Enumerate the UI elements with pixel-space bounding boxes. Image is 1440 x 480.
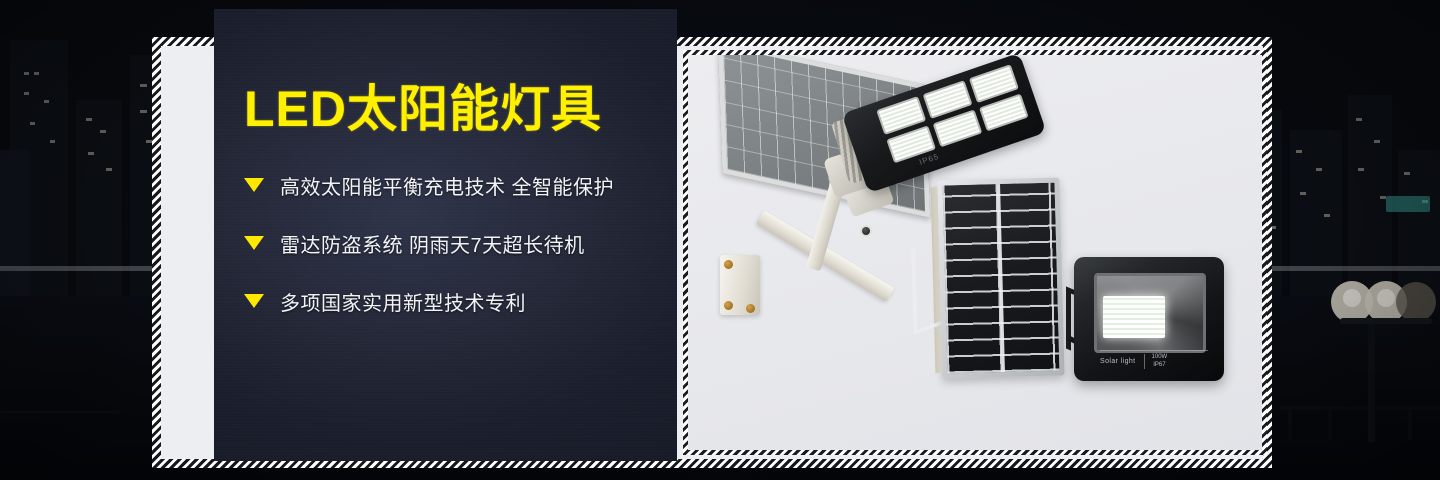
feature-text: 多项国家实用新型技术专利 xyxy=(280,287,526,316)
triangle-down-icon xyxy=(244,236,264,250)
feature-text: 高效太阳能平衡充电技术 全智能保护 xyxy=(280,171,614,200)
product-showcase-panel: IP65 xyxy=(683,50,1267,455)
solar-cell-grid xyxy=(943,183,1060,374)
bracket-bolt-icon xyxy=(746,304,755,313)
flood-light-ip-rating: IP67 xyxy=(1153,362,1165,368)
flood-light-label-row: Solar light 100W IP67 xyxy=(1100,350,1208,369)
flood-light-lens xyxy=(1094,273,1206,353)
triangle-down-icon xyxy=(244,178,264,192)
standalone-solar-panel-image xyxy=(937,177,1064,378)
solar-panel-frame xyxy=(937,177,1064,378)
triangle-down-icon xyxy=(244,294,264,308)
list-item: 多项国家实用新型技术专利 xyxy=(244,283,614,319)
page-title: LED太阳能灯具 xyxy=(244,69,602,141)
radar-sensor-icon xyxy=(860,225,872,237)
headline-panel: LED太阳能灯具 高效太阳能平衡充电技术 全智能保护 雷达防盗系统 阴雨天7天超… xyxy=(214,9,677,461)
solar-panel-busbar xyxy=(997,184,1005,372)
hatched-frame-border: LED太阳能灯具 高效太阳能平衡充电技术 全智能保护 雷达防盗系统 阴雨天7天超… xyxy=(152,37,1272,468)
feature-list: 高效太阳能平衡充电技术 全智能保护 雷达防盗系统 阴雨天7天超长待机 多项国家实… xyxy=(244,167,614,319)
flood-light-spec: 100W IP67 xyxy=(1144,354,1168,369)
flood-light-housing: Solar light 100W IP67 xyxy=(1074,257,1224,381)
led-solar-lamp-banner: LED太阳能灯具 高效太阳能平衡充电技术 全智能保护 雷达防盗系统 阴雨天7天超… xyxy=(0,0,1440,480)
list-item: 雷达防盗系统 阴雨天7天超长待机 xyxy=(244,225,614,261)
feature-text: 雷达防盗系统 阴雨天7天超长待机 xyxy=(280,229,585,258)
flood-light-wattage: 100W xyxy=(1152,354,1168,360)
led-chip-array xyxy=(1103,296,1165,338)
list-item: 高效太阳能平衡充电技术 全智能保护 xyxy=(244,167,614,203)
solar-flood-light-image: Solar light 100W IP67 xyxy=(1066,257,1228,387)
product-panel-surface: IP65 xyxy=(688,55,1262,450)
flood-light-label: Solar light xyxy=(1100,358,1136,365)
frame-inner-surface: LED太阳能灯具 高效太阳能平衡充电技术 全智能保护 雷达防盗系统 阴雨天7天超… xyxy=(161,46,1263,459)
